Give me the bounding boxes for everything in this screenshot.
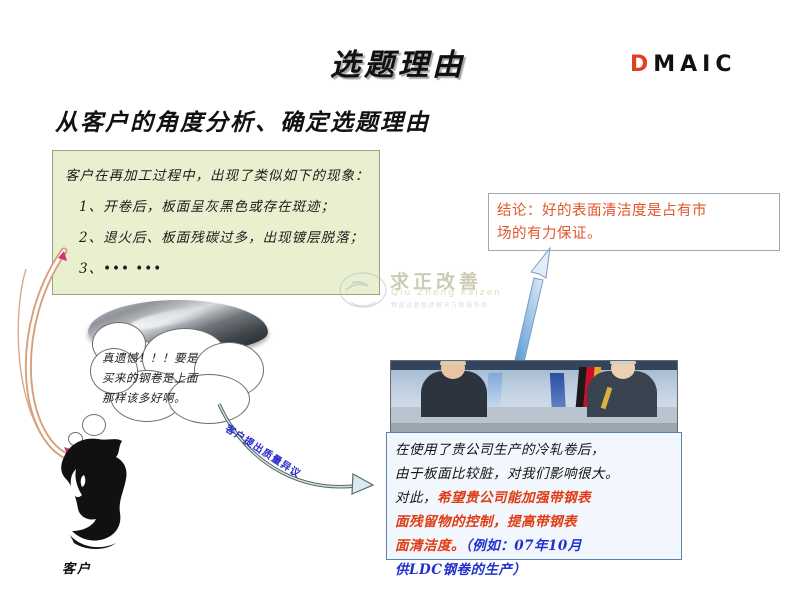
photo-person xyxy=(421,371,487,417)
bubble-dot xyxy=(82,414,106,436)
press-conference-photo xyxy=(390,360,678,436)
conclusion-line: 结论：好的表面清洁度是占有市 xyxy=(497,200,773,223)
person-with-hat-icon xyxy=(46,435,158,555)
dmaic-label: DMAIC xyxy=(630,52,737,77)
customer-label: 客户 xyxy=(62,558,92,577)
dmaic-phase-d: D xyxy=(630,52,653,77)
customer-letter-box: 在使用了贵公司生产的冷轧卷后， 由于板面比较脏，对我们影响很大。 对此，希望贵公… xyxy=(386,432,682,560)
page-subtitle: 从客户的角度分析、确定选题理由 xyxy=(55,103,430,137)
dmaic-phase-rest: MAIC xyxy=(653,52,736,77)
letter-seg-note: （例如：07年10月 xyxy=(465,538,582,554)
phenomenon-line: 1、开卷后，板面呈灰黑色或存在斑迹； xyxy=(79,192,379,223)
letter-line: 面残留物的控制，提高带钢表 xyxy=(395,510,681,534)
letter-line: 面清洁度。（例如：07年10月 xyxy=(395,534,681,558)
customer-silhouette xyxy=(46,435,158,555)
phenomenon-line: 客户在再加工过程中，出现了类似如下的现象： xyxy=(65,161,379,192)
phenomenon-line: 2、退火后、板面残碳过多，出现镀层脱落； xyxy=(79,223,379,254)
page-title: 选题理由 xyxy=(330,40,590,84)
bubble-line: 那样该多好啊。 xyxy=(102,388,254,408)
photo-person xyxy=(587,371,657,417)
photo-person-hair xyxy=(610,360,636,364)
letter-line: 在使用了贵公司生产的冷轧卷后， xyxy=(395,438,681,462)
bubble-line: 真遗憾！！！要是 xyxy=(102,348,254,368)
letter-seg-emphasis: 希望贵公司能加强带钢表 xyxy=(437,490,591,506)
phenomenon-box: 客户在再加工过程中，出现了类似如下的现象： 1、开卷后，板面呈灰黑色或存在斑迹；… xyxy=(52,150,380,295)
letter-seg: 对此， xyxy=(395,490,437,506)
watermark-mark-icon xyxy=(338,268,388,314)
slide-canvas: 选题理由 DMAIC 从客户的角度分析、确定选题理由 客户在再加工过程中，出现了… xyxy=(0,0,800,600)
phenomenon-line: 3、••• ••• xyxy=(79,254,379,285)
bubble-text: 真遗憾！！！要是 买来的钢卷是上面 那样该多好啊。 xyxy=(102,348,254,408)
curved-arrow-icon xyxy=(215,400,375,505)
letter-seg-emphasis: 面清洁度。 xyxy=(395,538,465,554)
letter-line: 供LDC钢卷的生产） xyxy=(395,558,681,582)
letter-line: 对此，希望贵公司能加强带钢表 xyxy=(395,486,681,510)
bubble-line: 买来的钢卷是上面 xyxy=(102,368,254,388)
quality-complaint-arrow xyxy=(215,400,375,505)
watermark-tagline: 精益运营整体解决方案服务商 xyxy=(391,300,489,309)
photo-person-hair xyxy=(440,360,466,365)
letter-line: 由于板面比较脏，对我们影响很大。 xyxy=(395,462,681,486)
